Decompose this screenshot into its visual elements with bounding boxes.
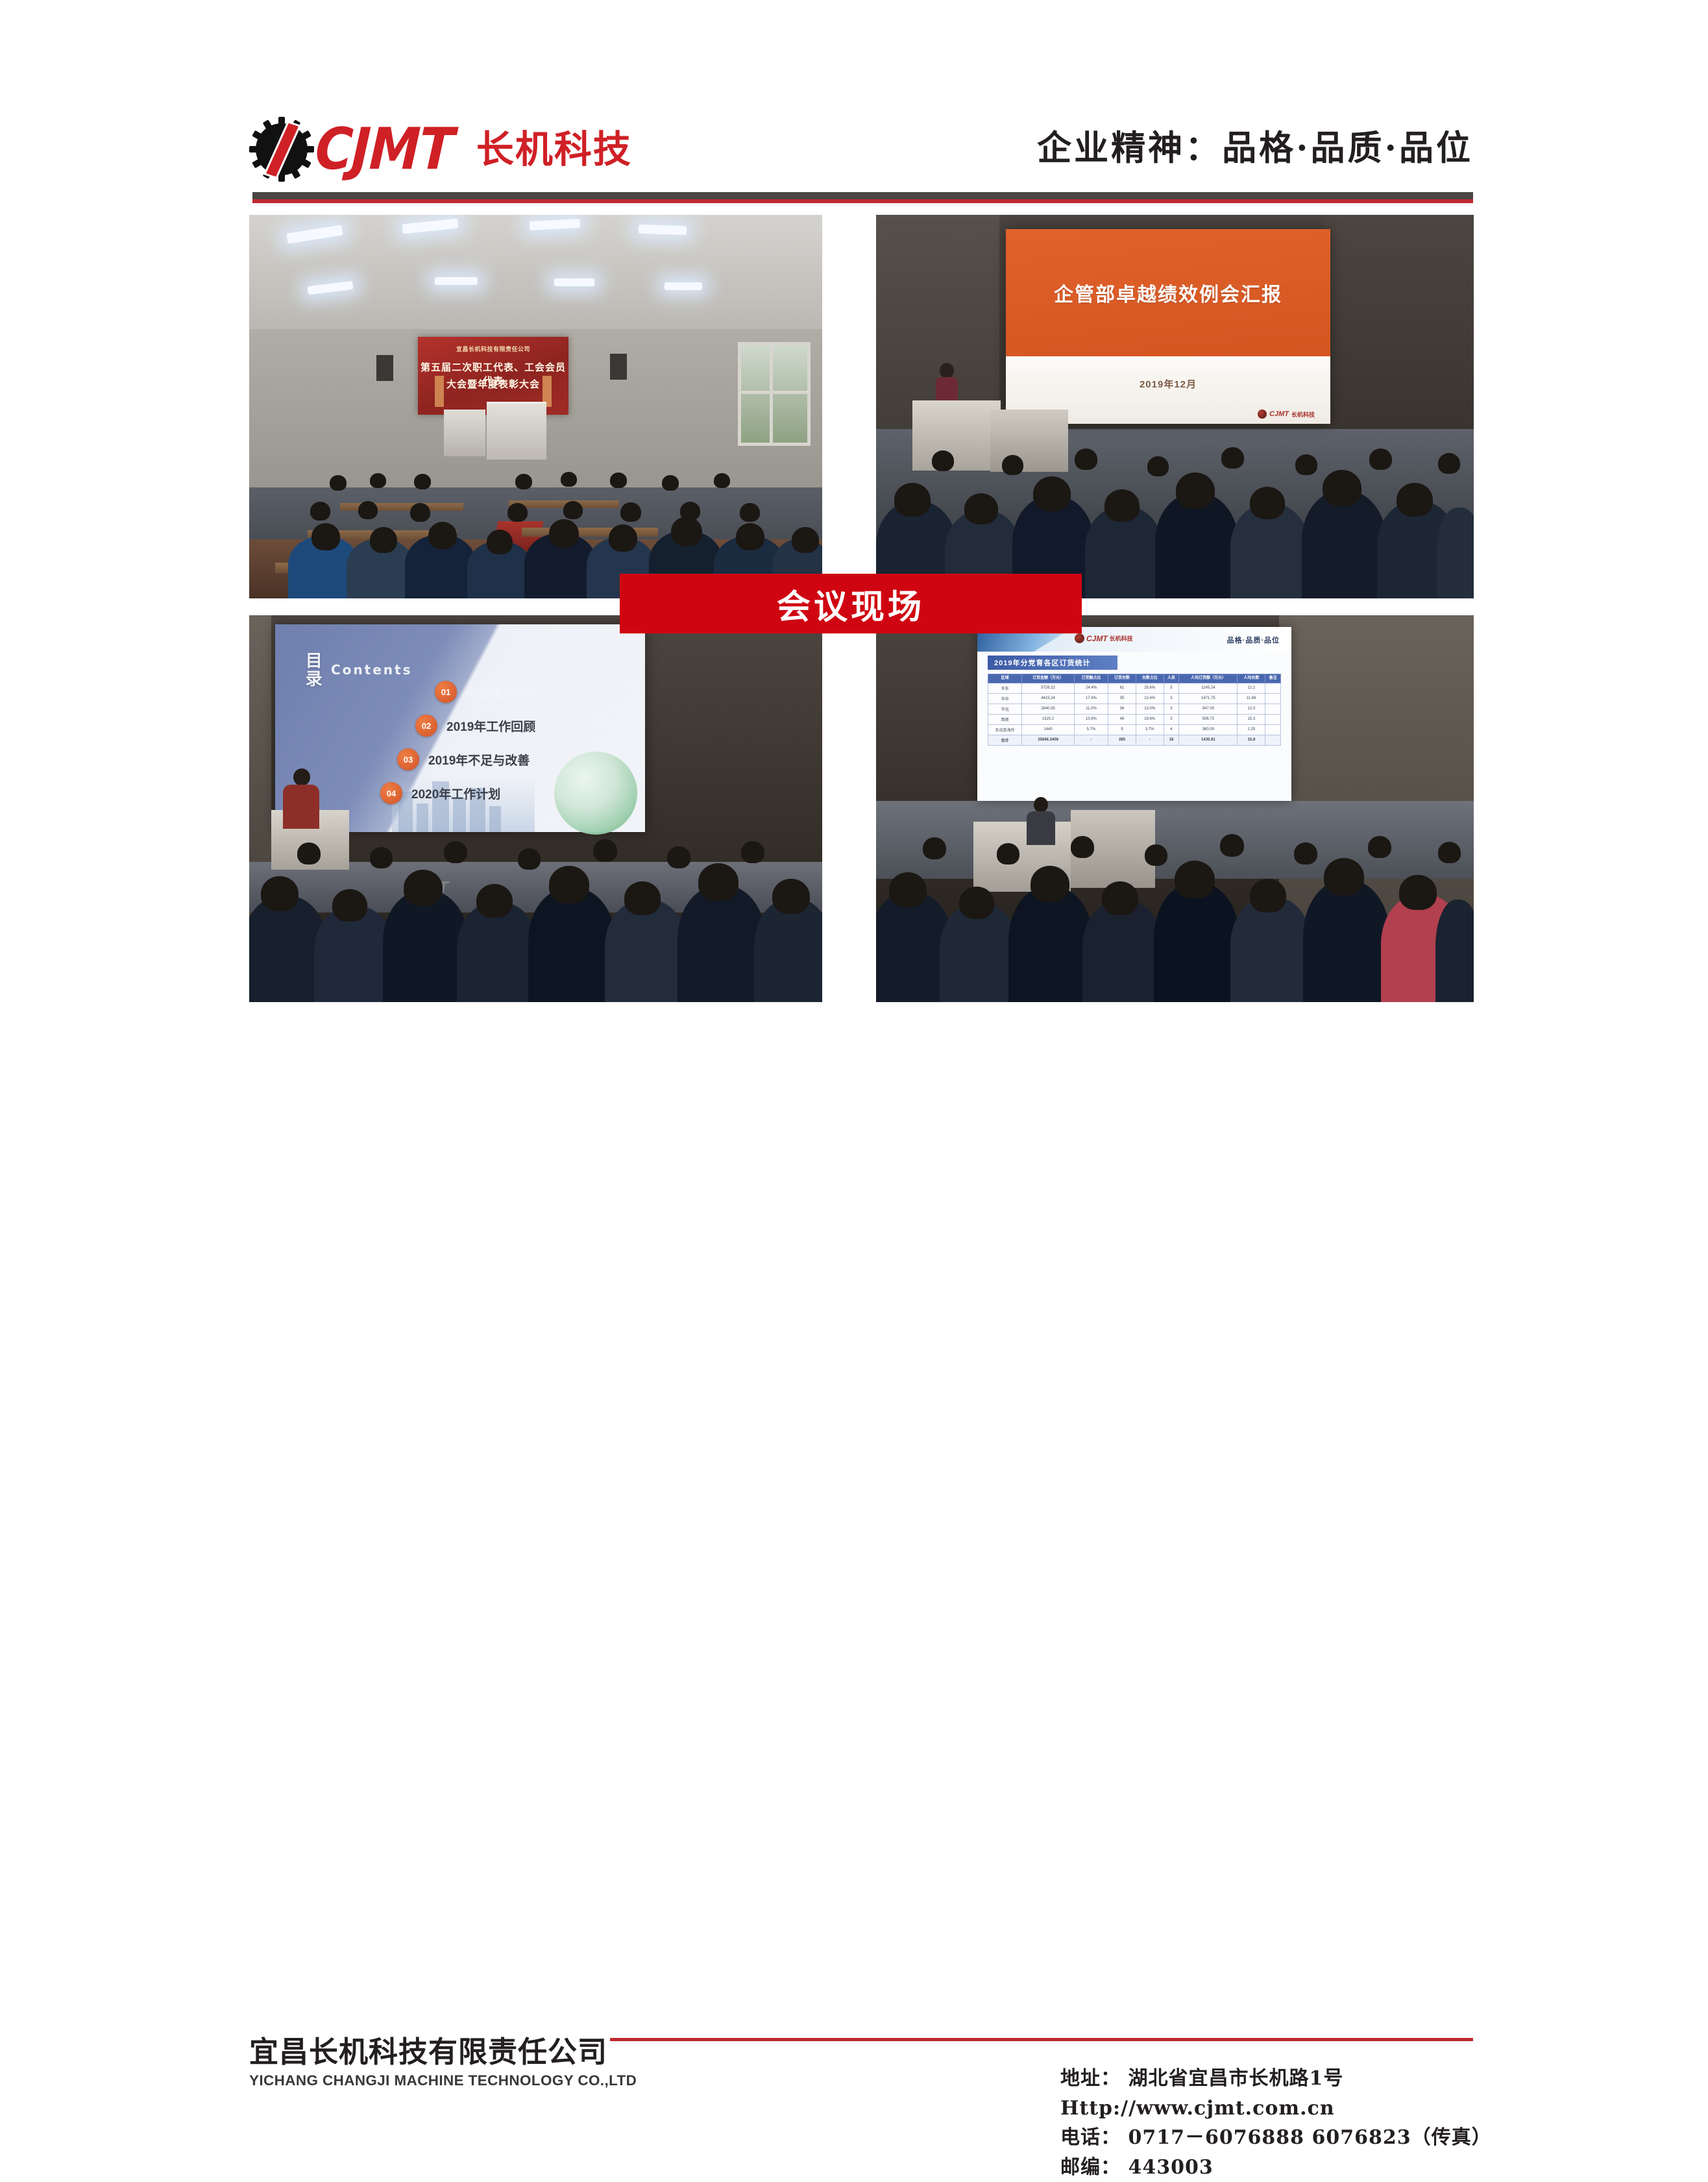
photo2-presenter bbox=[936, 363, 958, 404]
photo3-contents-list: 01 关键绩效指标 02 2019年工作回顾 03 2019年不足与改善 04 … bbox=[385, 675, 632, 810]
header-divider-red bbox=[252, 199, 1473, 203]
table-cell: 1435.91 bbox=[1179, 735, 1238, 745]
table-cell bbox=[1265, 714, 1281, 724]
photo3-item-number: 01 bbox=[435, 681, 457, 703]
photo4-logo-cn: 长机科技 bbox=[1110, 634, 1133, 643]
photo2-logo-latin: CJMT bbox=[1269, 410, 1289, 418]
photo-conference-hall-red-screen: 宜昌长机科技有限责任公司 第五届二次职工代表、工会会员代表 大会暨年度表彰大会 bbox=[249, 215, 822, 598]
table-cell: 3.7% bbox=[1136, 724, 1164, 735]
table-cell: 4415.24 bbox=[1022, 693, 1075, 704]
photo3-item-number: 03 bbox=[397, 748, 419, 770]
table-cell: 46 bbox=[1108, 714, 1136, 724]
table-cell: 1520.2 bbox=[1022, 714, 1075, 724]
table-row: 华北 2840.55 11.0% 36 13.0% 3 947.00 12.0 bbox=[988, 704, 1281, 714]
table-cell: 15.3 bbox=[1238, 714, 1265, 724]
photo-presenter-orange-slide: 企管部卓越绩效例会汇报 2019年12月 CJMT 长机科技 bbox=[876, 215, 1474, 598]
table-cell: 5 bbox=[1164, 683, 1179, 693]
table-cell: 1471.75 bbox=[1179, 693, 1238, 704]
table-cell bbox=[1265, 683, 1281, 693]
photo4-projection-screen: CJMT 长机科技 品格·品质·品位 2019年分党育各区订货统计 区域 订货金… bbox=[977, 627, 1291, 801]
footer-postcode: 邮编： 443003 bbox=[1060, 2153, 1492, 2182]
table-cell: 5.7% bbox=[1074, 724, 1108, 735]
table-cell: - bbox=[1074, 735, 1108, 745]
table-cell: 12.4% bbox=[1136, 693, 1164, 704]
table-cell: 1145.24 bbox=[1179, 683, 1238, 693]
photo3-contents-item: 02 2019年工作回顾 bbox=[415, 709, 632, 742]
table-cell: 17.4% bbox=[1074, 693, 1108, 704]
table-cell: 11.0% bbox=[1074, 704, 1108, 714]
table-header-cell: 人员 bbox=[1164, 674, 1179, 683]
banner-label: 会议现场 bbox=[777, 580, 925, 628]
photo3-item-label: 2020年工作计划 bbox=[411, 785, 500, 802]
photo4-slide-title: 2019年分党育各区订货统计 bbox=[988, 656, 1117, 670]
table-cell: 18 bbox=[1164, 735, 1179, 745]
table-cell bbox=[1265, 693, 1281, 704]
corporate-spirit-tagline: 企业精神：品格·品质·品位 bbox=[1037, 121, 1473, 170]
page-footer: 宜昌长机科技有限责任公司 YICHANG CHANGJI MACHINE TEC… bbox=[0, 1012, 1708, 1208]
footer-divider-red bbox=[610, 2038, 1473, 2041]
photo1-screen-line3: 大会暨年度表彰大会 bbox=[418, 377, 568, 391]
table-cell: 华中 bbox=[988, 693, 1022, 704]
table-row: 华东 5726.22 24.4% 61 25.6% 5 1145.24 12.2 bbox=[988, 683, 1281, 693]
photo2-screen-date: 2019年12月 bbox=[1006, 377, 1330, 391]
header-divider bbox=[252, 192, 1473, 204]
table-row: 东北及海外 1440 5.7% 9 3.7% 4 360.00 2.25 bbox=[988, 724, 1281, 735]
table-row: 合计 25846.3408 - 285 - 18 1435.91 15.8 bbox=[988, 735, 1281, 745]
table-row: 西南 1520.2 10.6% 46 19.6% 3 506.73 15.3 bbox=[988, 714, 1281, 724]
table-row: 华中 4415.24 17.4% 35 12.4% 3 1471.75 11.6… bbox=[988, 693, 1281, 704]
photo3-item-label: 关键绩效指标 bbox=[466, 683, 540, 701]
photo3-contents-item: 03 2019年不足与改善 bbox=[397, 742, 632, 776]
table-cell: 3 bbox=[1164, 714, 1179, 724]
photo4-slide-tagline: 品格·品质·品位 bbox=[1227, 635, 1280, 645]
photo4-slide-logo: CJMT 长机科技 bbox=[1075, 633, 1133, 643]
photo-contents-slide: CJMT 目录 Contents 01 关键绩效指标 bbox=[249, 615, 822, 1002]
gear-logo-icon bbox=[248, 116, 315, 183]
table-cell: 合计 bbox=[988, 735, 1022, 745]
table-cell: 12.2 bbox=[1238, 683, 1265, 693]
company-logo: CJMT 长机科技 bbox=[248, 116, 632, 183]
table-cell: 西南 bbox=[988, 714, 1022, 724]
photo4-gear-logo-icon bbox=[1075, 633, 1084, 643]
table-cell: 12.0 bbox=[1238, 704, 1265, 714]
meeting-scene-banner: 会议现场 bbox=[620, 574, 1082, 633]
photo3-item-number: 02 bbox=[415, 715, 437, 737]
footer-address: 地址： 湖北省宜昌市长机路1号 bbox=[1060, 2064, 1492, 2094]
table-cell: 25.6% bbox=[1136, 683, 1164, 693]
table-cell: 13.0% bbox=[1136, 704, 1164, 714]
logo-brand-cn: 长机科技 bbox=[476, 130, 632, 168]
table-cell bbox=[1265, 735, 1281, 745]
photo3-heading-cn: 目录 bbox=[304, 652, 321, 688]
photo4-presenter bbox=[1027, 797, 1055, 845]
table-cell: 华北 bbox=[988, 704, 1022, 714]
photo2-gear-logo-icon bbox=[1258, 410, 1267, 419]
footer-company-cn: 宜昌长机科技有限责任公司 bbox=[249, 2036, 629, 2068]
photo3-item-label: 2019年工作回顾 bbox=[446, 717, 535, 735]
table-cell: 25846.3408 bbox=[1022, 735, 1075, 745]
photo2-slide-logo: CJMT 长机科技 bbox=[1258, 410, 1315, 419]
photo2-logo-cn: 长机科技 bbox=[1291, 410, 1315, 419]
table-header-row: 区域 订货金额（万元） 订货额占比 订货台数 台数占比 人员 人均订货额（万元）… bbox=[988, 674, 1281, 683]
table-header-cell: 台数占比 bbox=[1136, 674, 1164, 683]
photo-data-table-slide: CJMT 长机科技 品格·品质·品位 2019年分党育各区订货统计 区域 订货金… bbox=[876, 615, 1474, 1002]
footer-company-block: 宜昌长机科技有限责任公司 YICHANG CHANGJI MACHINE TEC… bbox=[249, 2036, 629, 2089]
photo2-projection-screen: 企管部卓越绩效例会汇报 2019年12月 CJMT 长机科技 bbox=[1006, 229, 1330, 424]
table-cell: 2840.55 bbox=[1022, 704, 1075, 714]
header-divider-dark bbox=[252, 192, 1473, 199]
footer-website[interactable]: Http://www.cjmt.com.cn bbox=[1060, 2094, 1492, 2124]
table-header-cell: 备注 bbox=[1265, 674, 1281, 683]
table-header-cell: 订货额占比 bbox=[1074, 674, 1108, 683]
table-cell: 947.00 bbox=[1179, 704, 1238, 714]
footer-phone: 电话： 0717－6076888 6076823（传真） bbox=[1060, 2123, 1492, 2153]
table-cell: 506.73 bbox=[1179, 714, 1238, 724]
photo1-window bbox=[738, 342, 811, 446]
photo3-presenter bbox=[283, 768, 319, 828]
table-cell: 5726.22 bbox=[1022, 683, 1075, 693]
photo3-contents-item: 01 关键绩效指标 bbox=[435, 675, 632, 709]
table-cell: 360.00 bbox=[1179, 724, 1238, 735]
photo3-item-number: 04 bbox=[380, 782, 402, 804]
table-cell: 2.25 bbox=[1238, 724, 1265, 735]
table-cell: 35 bbox=[1108, 693, 1136, 704]
photo4-logo-latin: CJMT bbox=[1086, 634, 1108, 643]
page-header: CJMT 长机科技 企业精神：品格·品质·品位 bbox=[0, 0, 1708, 195]
table-cell: 61 bbox=[1108, 683, 1136, 693]
table-header-cell: 人均订货额（万元） bbox=[1179, 674, 1238, 683]
table-cell bbox=[1265, 704, 1281, 714]
table-header-cell: 订货台数 bbox=[1108, 674, 1136, 683]
table-cell: 285 bbox=[1108, 735, 1136, 745]
table-cell: 15.8 bbox=[1238, 735, 1265, 745]
table-cell: 19.6% bbox=[1136, 714, 1164, 724]
table-cell: 1440 bbox=[1022, 724, 1075, 735]
footer-contact-block: 地址： 湖北省宜昌市长机路1号 Http://www.cjmt.com.cn 电… bbox=[1060, 2064, 1492, 2182]
photo3-projection-screen: 目录 Contents 01 关键绩效指标 02 2019年工作回顾 03 20… bbox=[275, 624, 645, 832]
table-cell: 24.4% bbox=[1074, 683, 1108, 693]
table-cell: 11.66 bbox=[1238, 693, 1265, 704]
table-header-cell: 区域 bbox=[988, 674, 1022, 683]
photo4-data-table: 区域 订货金额（万元） 订货额占比 订货台数 台数占比 人员 人均订货额（万元）… bbox=[988, 674, 1281, 746]
table-cell: 10.6% bbox=[1074, 714, 1108, 724]
table-cell: 9 bbox=[1108, 724, 1136, 735]
table-cell: 36 bbox=[1108, 704, 1136, 714]
table-cell bbox=[1265, 724, 1281, 735]
table-cell: 3 bbox=[1164, 693, 1179, 704]
table-header-cell: 人均台数 bbox=[1238, 674, 1265, 683]
photo3-contents-item: 04 2020年工作计划 bbox=[380, 776, 632, 810]
table-cell: 东北及海外 bbox=[988, 724, 1022, 735]
photo3-item-label: 2019年不足与改善 bbox=[428, 751, 530, 768]
table-cell: 3 bbox=[1164, 704, 1179, 714]
photo2-screen-title: 企管部卓越绩效例会汇报 bbox=[1054, 278, 1282, 307]
table-cell: - bbox=[1136, 735, 1164, 745]
table-cell: 华东 bbox=[988, 683, 1022, 693]
photo1-screen-line1: 宜昌长机科技有限责任公司 bbox=[418, 345, 568, 353]
table-header-cell: 订货金额（万元） bbox=[1022, 674, 1075, 683]
logo-brand-latin: CJMT bbox=[314, 121, 454, 178]
table-cell: 4 bbox=[1164, 724, 1179, 735]
footer-company-en: YICHANG CHANGJI MACHINE TECHNOLOGY CO.,L… bbox=[249, 2072, 637, 2089]
